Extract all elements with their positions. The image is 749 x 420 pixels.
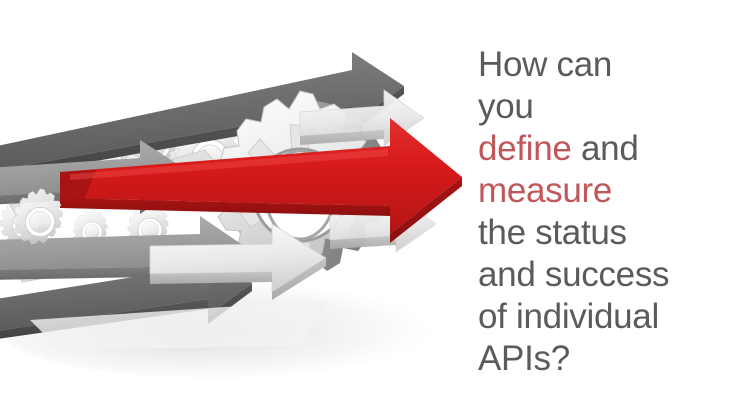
headline-line-8-text: APIs? bbox=[478, 339, 570, 378]
headline-accent-measure: measure bbox=[478, 171, 612, 210]
headline-line-4: measure bbox=[478, 170, 740, 212]
headline-line-5-text: the status bbox=[478, 213, 627, 252]
headline-line-6: and success bbox=[478, 254, 740, 296]
headline-line-5: the status bbox=[478, 212, 740, 254]
gears-arrows-artwork bbox=[0, 0, 470, 420]
headline-line-2: you bbox=[478, 86, 740, 128]
slide-canvas: How can you define and measure the statu… bbox=[0, 0, 749, 420]
headline-line-2-text: you bbox=[478, 87, 534, 126]
headline-line-1: How can bbox=[478, 44, 740, 86]
headline-line-8: APIs? bbox=[478, 338, 740, 380]
headline-line-1-text: How can bbox=[478, 45, 612, 84]
headline-line-3: define and bbox=[478, 128, 740, 170]
headline-line-6-text: and success bbox=[478, 255, 669, 294]
headline-line-3-tail: and bbox=[572, 129, 639, 168]
headline-text-block: How can you define and measure the statu… bbox=[478, 44, 740, 380]
headline-accent-define: define bbox=[478, 129, 572, 168]
headline-line-7: of individual bbox=[478, 296, 740, 338]
headline-line-7-text: of individual bbox=[478, 297, 659, 336]
